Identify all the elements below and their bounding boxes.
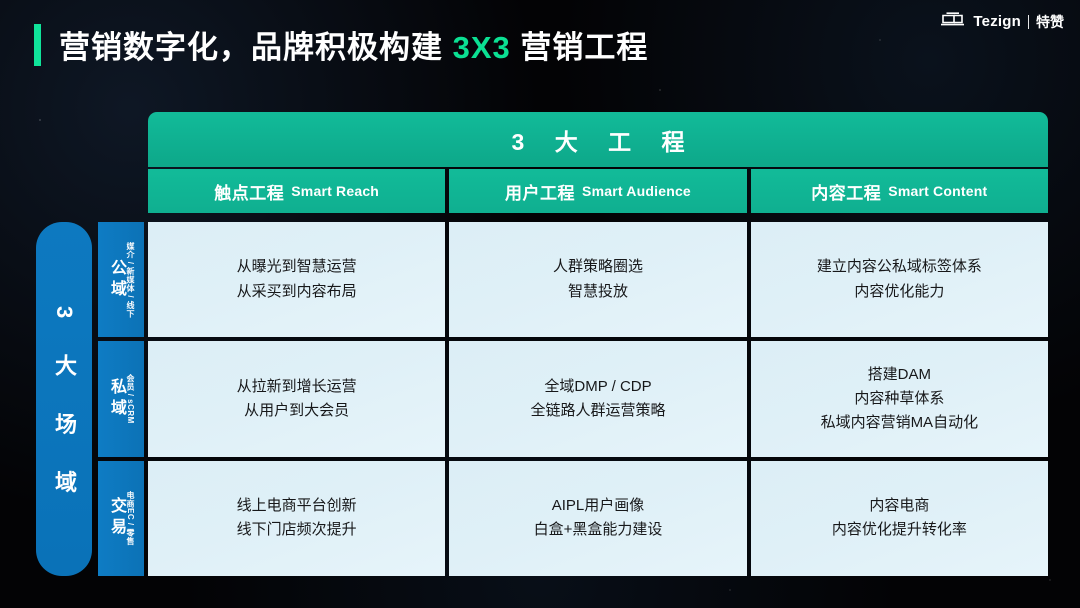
cell-line: 私域内容营销MA自动化 bbox=[821, 411, 979, 435]
cell-line: 内容电商 bbox=[869, 494, 929, 518]
engine-header-cn: 用户工程 bbox=[505, 179, 575, 204]
cell-line: 线上电商平台创新 bbox=[237, 494, 357, 518]
cell-line: 内容优化能力 bbox=[854, 280, 944, 304]
scene-tab-private-domain[interactable]: 私域 会员 / sCRM bbox=[98, 341, 144, 456]
matrix-cell[interactable]: 从曝光到智慧运营 从采买到内容布局 bbox=[148, 222, 445, 337]
matrix-3x3: 3 大 工 程 触点工程 Smart Reach 用户工程 Smart Audi… bbox=[36, 112, 1048, 576]
tezign-logo-icon bbox=[940, 10, 966, 33]
engines-band-label: 3 大 工 程 bbox=[500, 123, 697, 157]
cell-line: AIPL用户画像 bbox=[552, 494, 645, 518]
matrix-grid: 从曝光到智慧运营 从采买到内容布局 人群策略圈选 智慧投放 建立内容公私域标签体… bbox=[148, 222, 1048, 576]
cell-line: 智慧投放 bbox=[568, 280, 628, 304]
cell-line: 全域DMP / CDP bbox=[544, 375, 651, 399]
scene-tab-sublabel: 电商EC / 零售 bbox=[126, 491, 134, 545]
page-title-prefix: 营销数字化，品牌积极构建 bbox=[59, 30, 453, 65]
brand-name-cn: 特赞 bbox=[1036, 12, 1064, 32]
brand-lockup: Tezign 特赞 bbox=[940, 10, 1064, 33]
scenes-pill: 3 大 场 域 bbox=[36, 222, 92, 576]
scene-tab-sublabel: 媒介 / 新媒体 / 线下 bbox=[126, 242, 134, 318]
page-title: 营销数字化，品牌积极构建 3X3 营销工程 bbox=[59, 22, 648, 67]
matrix-cell[interactable]: 线上电商平台创新 线下门店频次提升 bbox=[148, 461, 445, 576]
cell-line: 线下门店频次提升 bbox=[237, 518, 357, 542]
matrix-cell[interactable]: 全域DMP / CDP 全链路人群运营策略 bbox=[449, 341, 746, 456]
matrix-row-transaction: 线上电商平台创新 线下门店频次提升 AIPL用户画像 白盒+黑盒能力建设 内容电… bbox=[148, 461, 1048, 576]
cell-line: 从曝光到智慧运营 bbox=[237, 255, 357, 279]
page-title-suffix: 营销工程 bbox=[511, 30, 649, 65]
scene-tab-name: 私域 bbox=[108, 378, 124, 420]
cell-line: 从用户到大会员 bbox=[244, 399, 349, 423]
scene-tab-name: 交易 bbox=[108, 497, 124, 539]
cell-line: 内容优化提升转化率 bbox=[832, 518, 967, 542]
matrix-row-public-domain: 从曝光到智慧运营 从采买到内容布局 人群策略圈选 智慧投放 建立内容公私域标签体… bbox=[148, 222, 1048, 337]
scene-tab-public-domain[interactable]: 公域 媒介 / 新媒体 / 线下 bbox=[98, 222, 144, 337]
cell-line: 内容种草体系 bbox=[854, 387, 944, 411]
engine-header-touchpoint[interactable]: 触点工程 Smart Reach bbox=[148, 169, 445, 213]
engine-header-content[interactable]: 内容工程 Smart Content bbox=[751, 169, 1048, 213]
cell-line: 白盒+黑盒能力建设 bbox=[534, 518, 663, 542]
scenes-pill-label: 3 大 场 域 bbox=[53, 291, 75, 508]
matrix-cell[interactable]: 搭建DAM 内容种草体系 私域内容营销MA自动化 bbox=[751, 341, 1048, 456]
slide-root: Tezign 特赞 营销数字化，品牌积极构建 3X3 营销工程 3 大 工 程 … bbox=[0, 0, 1080, 608]
title-accent-bar bbox=[34, 24, 41, 66]
engine-header-cn: 触点工程 bbox=[214, 179, 284, 204]
cell-line: 建立内容公私域标签体系 bbox=[817, 255, 982, 279]
brand-name: Tezign bbox=[973, 13, 1021, 30]
page-title-accent: 3X3 bbox=[453, 30, 511, 65]
matrix-cell[interactable]: 从拉新到增长运营 从用户到大会员 bbox=[148, 341, 445, 456]
engine-header-audience[interactable]: 用户工程 Smart Audience bbox=[449, 169, 746, 213]
cell-line: 从拉新到增长运营 bbox=[237, 375, 357, 399]
matrix-cell[interactable]: 建立内容公私域标签体系 内容优化能力 bbox=[751, 222, 1048, 337]
matrix-cell[interactable]: 内容电商 内容优化提升转化率 bbox=[751, 461, 1048, 576]
engine-header-cn: 内容工程 bbox=[811, 179, 881, 204]
matrix-cell[interactable]: 人群策略圈选 智慧投放 bbox=[449, 222, 746, 337]
scene-tab-sublabel: 会员 / sCRM bbox=[126, 374, 134, 424]
cell-line: 人群策略圈选 bbox=[553, 255, 643, 279]
scene-tab-transaction[interactable]: 交易 电商EC / 零售 bbox=[98, 461, 144, 576]
matrix-cell[interactable]: AIPL用户画像 白盒+黑盒能力建设 bbox=[449, 461, 746, 576]
cell-line: 搭建DAM bbox=[868, 363, 931, 387]
engine-header-en: Smart Reach bbox=[291, 183, 379, 199]
scene-tabs: 公域 媒介 / 新媒体 / 线下 私域 会员 / sCRM 交易 电商EC / … bbox=[98, 222, 144, 576]
engines-band: 3 大 工 程 bbox=[148, 112, 1048, 167]
matrix-row-private-domain: 从拉新到增长运营 从用户到大会员 全域DMP / CDP 全链路人群运营策略 搭… bbox=[148, 341, 1048, 456]
cell-line: 从采买到内容布局 bbox=[237, 280, 357, 304]
engine-header-en: Smart Audience bbox=[582, 183, 691, 199]
cell-line: 全链路人群运营策略 bbox=[530, 399, 665, 423]
brand-divider bbox=[1028, 15, 1029, 29]
engines-header-row: 触点工程 Smart Reach 用户工程 Smart Audience 内容工… bbox=[148, 169, 1048, 213]
scene-tab-name: 公域 bbox=[108, 259, 124, 301]
engine-header-en: Smart Content bbox=[888, 183, 987, 199]
slide-title-row: 营销数字化，品牌积极构建 3X3 营销工程 bbox=[34, 22, 648, 67]
